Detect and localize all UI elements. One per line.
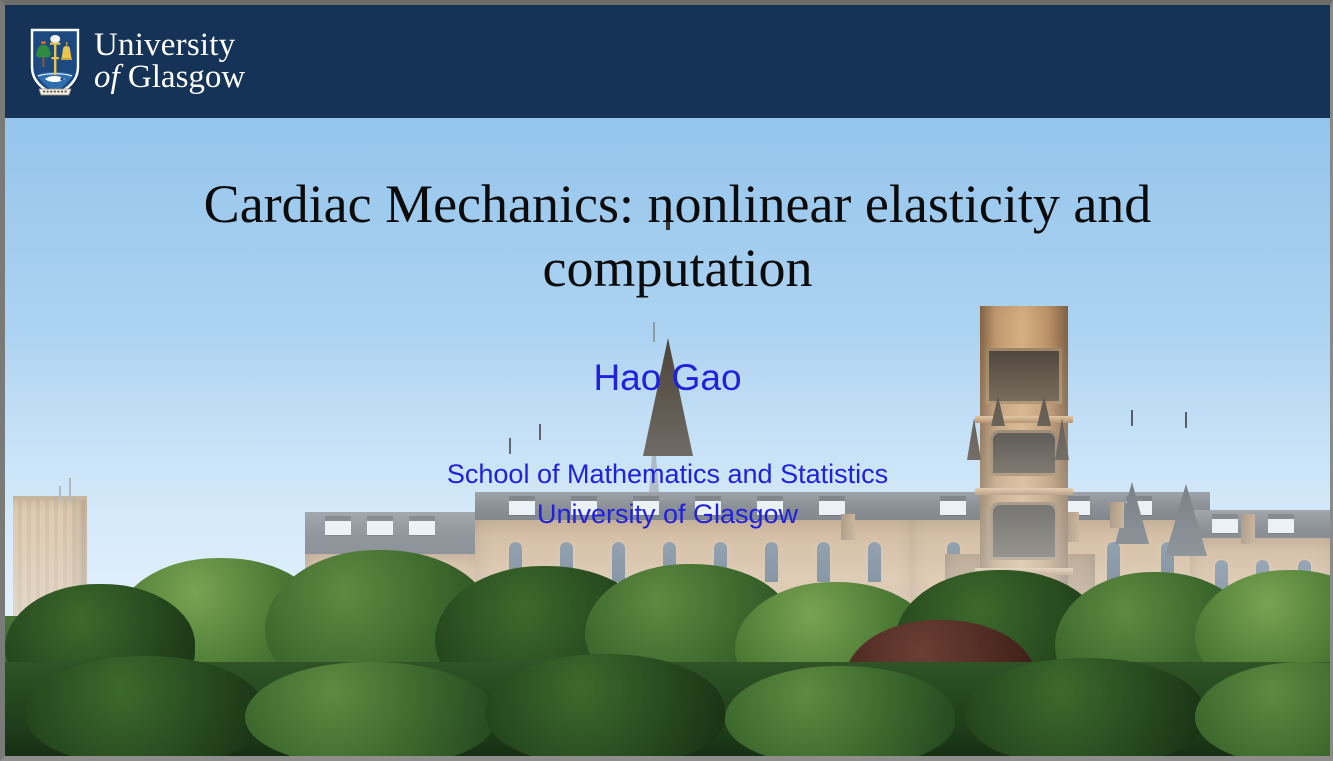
tree <box>25 656 265 756</box>
wordmark-of: of <box>94 59 120 95</box>
tree <box>485 654 725 756</box>
tree <box>965 658 1205 756</box>
affiliation-line-school: School of Mathematics and Statistics <box>5 455 1330 495</box>
tree <box>245 662 495 756</box>
university-logo: University of Glasgow <box>29 27 245 97</box>
affiliation-line-university: University of Glasgow <box>5 495 1330 535</box>
wordmark-glasgow: Glasgow <box>128 59 245 95</box>
wordmark-line-university: University <box>94 30 245 61</box>
wordmark-line-glasgow: of Glasgow <box>94 62 245 93</box>
slide-title: Cardiac Mechanics: nonlinear elasticity … <box>115 173 1240 300</box>
university-wordmark: University of Glasgow <box>94 30 245 93</box>
presentation-title-slide: University of Glasgow Cardiac Mechanics:… <box>0 0 1333 761</box>
slide-header-band: University of Glasgow <box>5 5 1330 118</box>
university-crest-icon <box>29 27 81 97</box>
slide-author: Hao Gao <box>5 357 1330 399</box>
tree-canopy <box>5 536 1330 756</box>
tree <box>725 666 955 756</box>
slide-affiliation: School of Mathematics and Statistics Uni… <box>5 455 1330 535</box>
